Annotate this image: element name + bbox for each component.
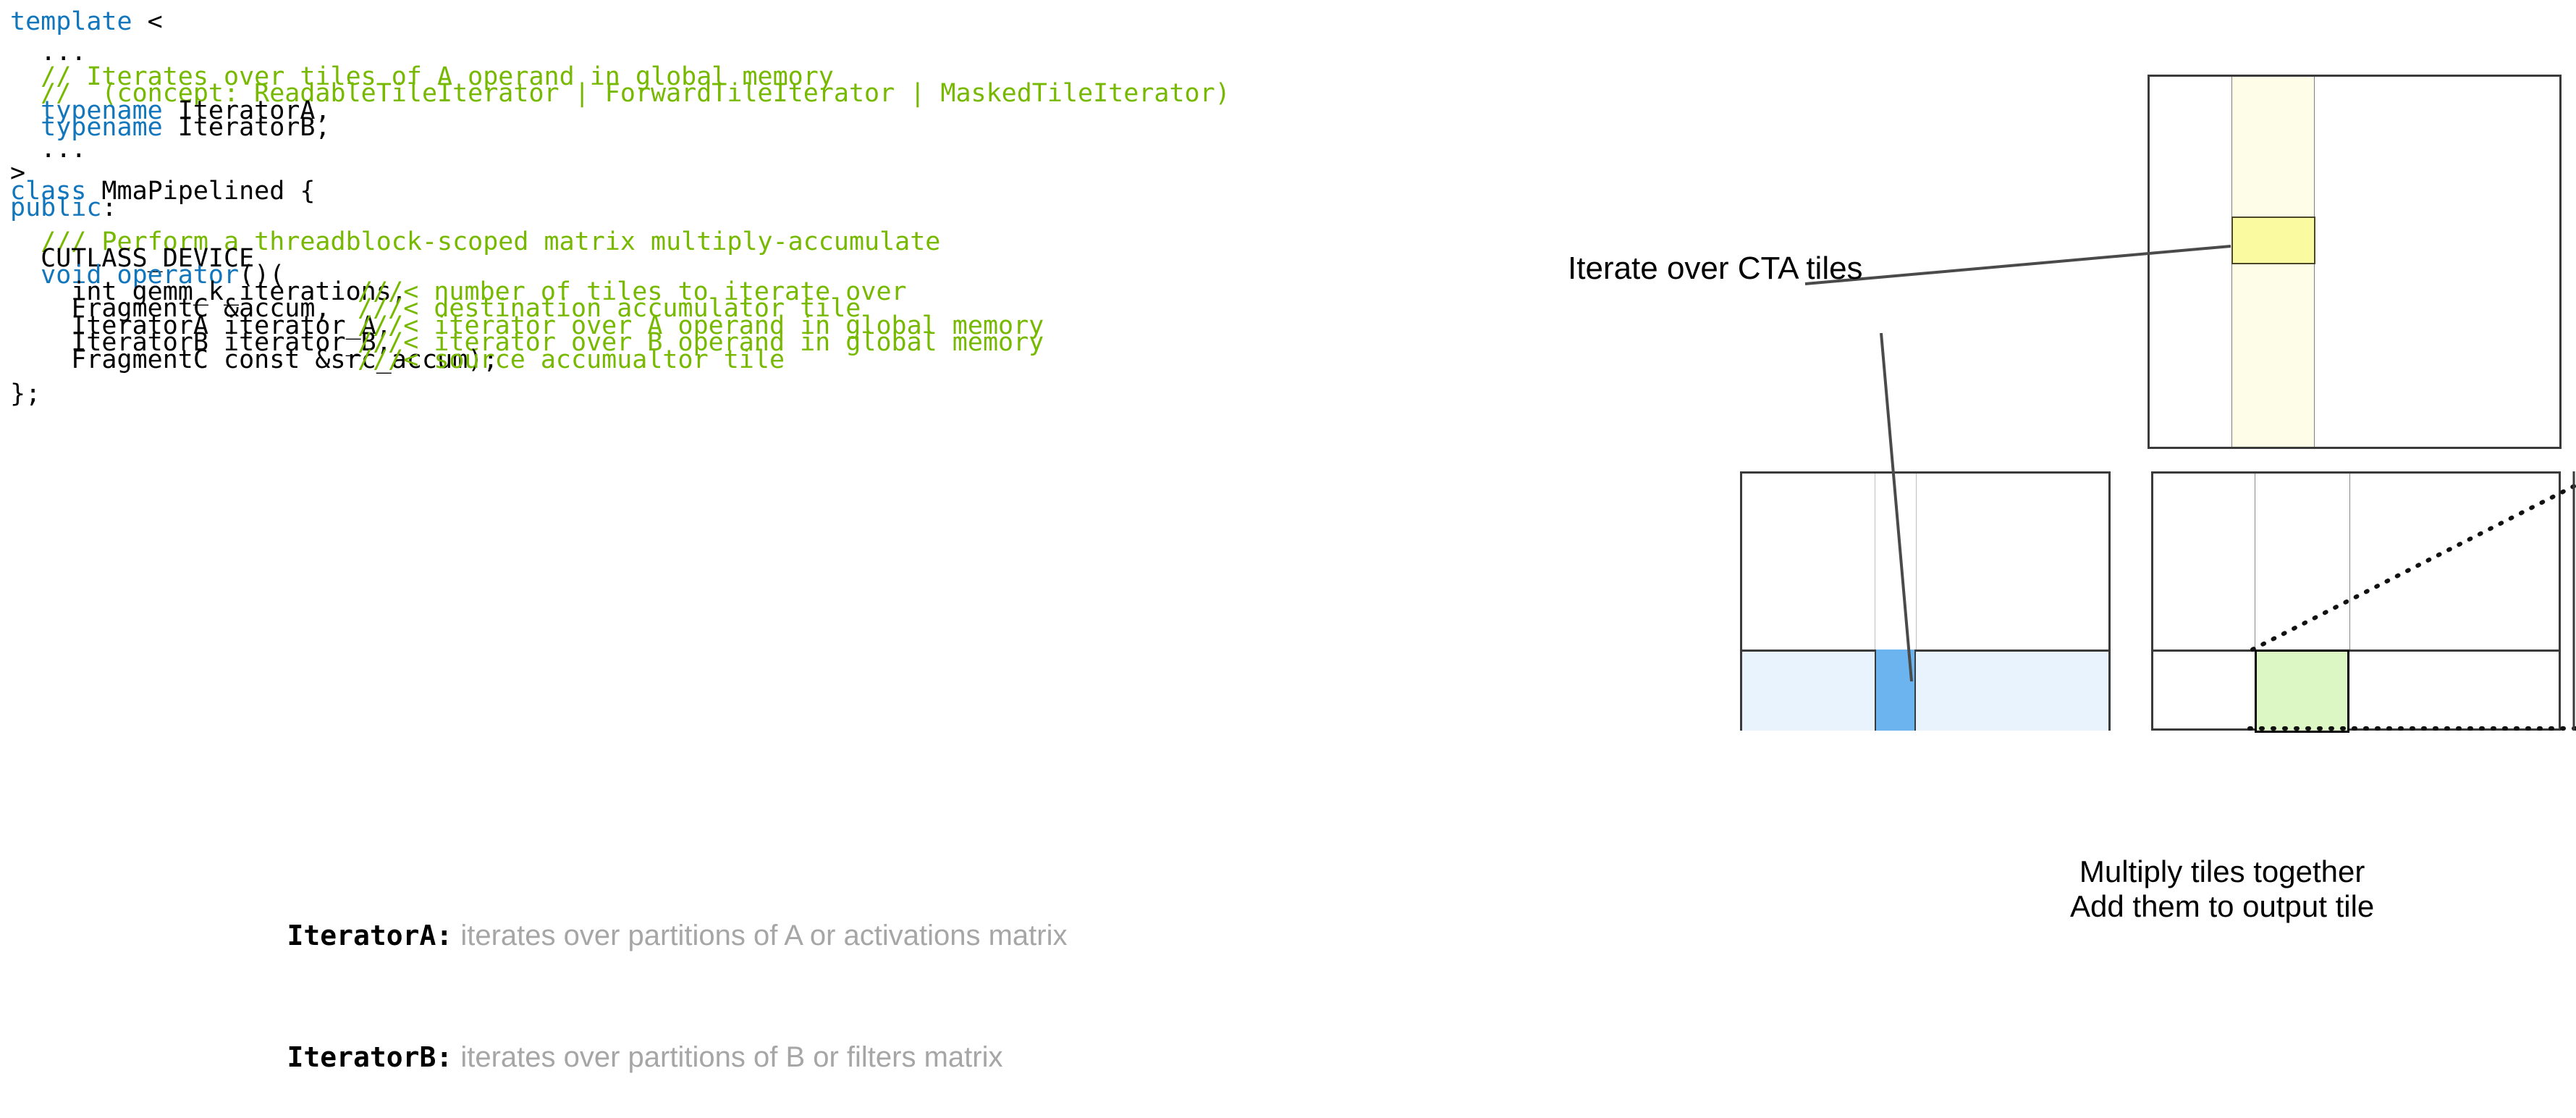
code-keyword: public	[10, 193, 101, 222]
c-output-gridline	[2153, 650, 2559, 652]
b-operand-matrix	[1740, 471, 2111, 731]
code-comment: ///< source accumualtor tile	[358, 345, 785, 374]
code-text: <	[132, 7, 163, 36]
legend-row: IteratorA: iterates over partitions of A…	[255, 875, 1413, 996]
c-output-gridline	[2349, 474, 2350, 650]
legend-row: IteratorB: iterates over partitions of B…	[255, 996, 1413, 1118]
c-output-matrix	[2151, 471, 2561, 731]
code-text: FragmentC const &src_accum);	[10, 341, 358, 379]
multiply-add-annotation: Multiply tiles together Add them to outp…	[2070, 854, 2374, 924]
code-keyword: template	[10, 7, 132, 36]
code-line: };	[10, 375, 41, 413]
code-text: :	[101, 193, 117, 222]
a-operand-cta-tile	[2231, 217, 2315, 264]
multiply-line-2: Add them to output tile	[2070, 889, 2374, 924]
multiply-line-1: Multiply tiles together	[2070, 854, 2374, 889]
code-line: FragmentC const &src_accum);///< source …	[10, 341, 785, 379]
a-operand-matrix	[2148, 75, 2562, 449]
iterator-legend: IteratorA: iterates over partitions of A…	[255, 875, 1413, 1118]
legend-value: iterates over partitions of B or filters…	[452, 1041, 1002, 1073]
legend-key: IteratorA:	[287, 920, 452, 951]
legend-key: IteratorB:	[287, 1041, 452, 1073]
b-operand-cta-tile	[1875, 650, 1916, 731]
code-text: MmaPipelined {	[86, 177, 315, 206]
code-panel: template < ... // Iterates over tiles of…	[0, 0, 1686, 818]
cta-tiles-annotation: Iterate over CTA tiles	[1568, 250, 1863, 287]
code-text: };	[10, 379, 41, 408]
code-text: IteratorB,	[163, 113, 331, 142]
code-line: public:	[10, 189, 117, 227]
b-operand-row-band	[1742, 650, 2108, 731]
c-output-gridline	[2255, 474, 2255, 650]
legend-value: iterates over partitions of A or activat…	[452, 920, 1067, 951]
c-output-accumulator-tile	[2255, 650, 2349, 733]
